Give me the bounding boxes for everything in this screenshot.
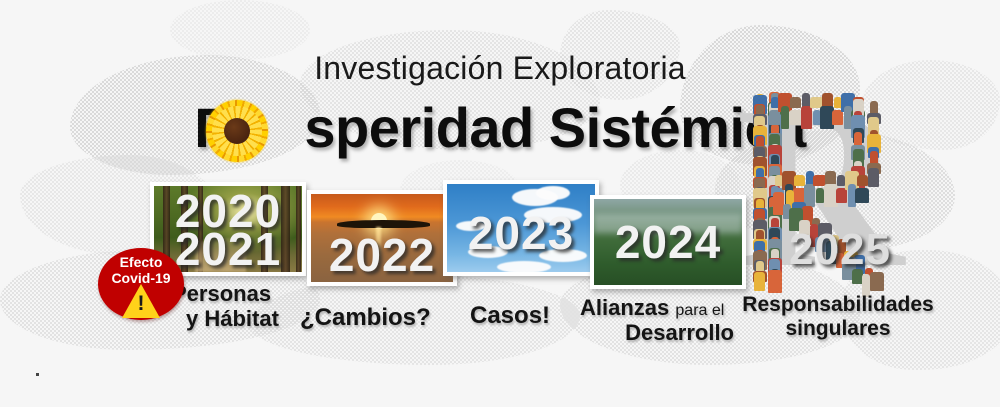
sunflower-icon	[206, 100, 268, 162]
card-year-2024: 2024	[594, 215, 742, 269]
person-figure	[754, 272, 765, 291]
sunflower-core	[224, 118, 250, 144]
person-figure	[855, 188, 869, 203]
covid-line-1: Efecto	[120, 254, 163, 270]
timeline-label-2022: ¿Cambios?	[300, 305, 470, 332]
label-connector: para el	[675, 302, 724, 319]
timeline-label-2025: Responsabilidades singulares	[738, 293, 938, 340]
corner-dot	[36, 373, 39, 376]
timeline-card-2024[interactable]: 2024	[590, 195, 746, 289]
rainbow-forest-photo: 2024	[594, 199, 742, 285]
label-line-2: singulares	[738, 317, 938, 341]
blue-sky-clouds-photo: 2023	[447, 184, 595, 272]
person-figure	[804, 184, 815, 207]
label-line-2: Desarrollo	[580, 321, 750, 346]
banner-stage: Investigación Exploratoria Prsperidad Si…	[0, 0, 1000, 407]
timeline-card-2022[interactable]: 2022	[307, 190, 457, 286]
person-figure	[801, 106, 812, 129]
person-figure	[832, 110, 843, 125]
label-line-1: Alianzas	[580, 295, 669, 320]
person-figure	[769, 110, 780, 125]
card-year-2022: 2022	[311, 228, 453, 282]
card-year-2023: 2023	[447, 206, 595, 260]
person-figure	[868, 168, 879, 187]
label-line-1: Responsabilidades	[742, 293, 933, 316]
person-figure	[790, 97, 801, 108]
person-figure	[857, 175, 868, 186]
covid-badge-text: Efecto Covid-19	[98, 255, 184, 286]
card-year-2025: 2025	[775, 225, 905, 275]
person-figure	[836, 188, 847, 203]
warning-triangle-icon	[122, 284, 160, 318]
timeline-label-2024: Alianzas para el Desarrollo	[580, 296, 750, 345]
label-line-1: Personas	[172, 281, 271, 306]
person-figure	[794, 175, 805, 186]
covid-effect-badge[interactable]: Efecto Covid-19	[98, 248, 184, 320]
sunset-lake-photo: 2022	[311, 194, 453, 282]
timeline-card-2023[interactable]: 2023	[443, 180, 599, 276]
